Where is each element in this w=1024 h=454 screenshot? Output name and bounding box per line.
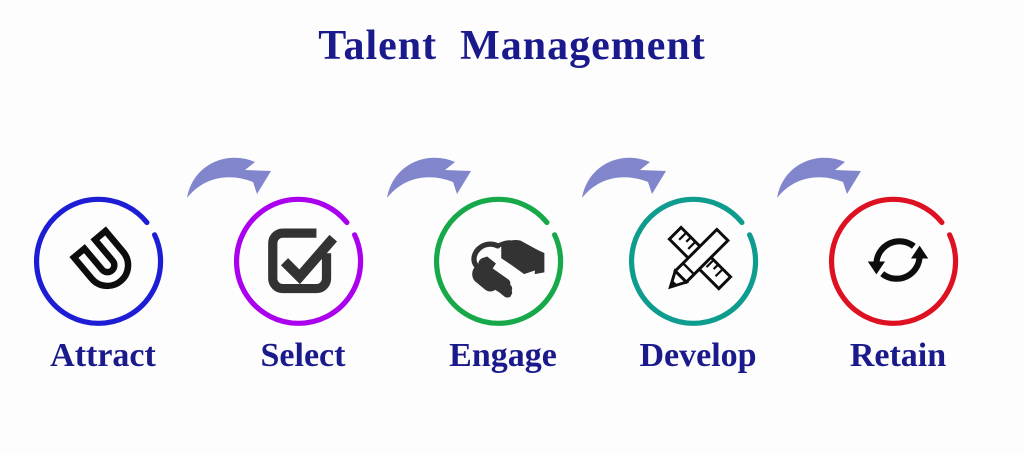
refresh-cycle-arrows-icon	[851, 213, 945, 307]
step-label-attract: Attract	[8, 337, 198, 375]
step-attract[interactable]: Attract	[28, 185, 178, 385]
checkbox-check-icon	[256, 213, 350, 307]
step-retain[interactable]: Retain	[823, 185, 973, 385]
step-label-develop: Develop	[603, 337, 793, 375]
step-select[interactable]: Select	[228, 185, 378, 385]
step-label-engage: Engage	[408, 337, 598, 375]
magnet-icon	[56, 213, 150, 307]
pencil-ruler-icon	[651, 213, 745, 307]
page-title: Talent Management	[0, 22, 1024, 70]
step-engage[interactable]: Engage	[428, 185, 578, 385]
step-develop[interactable]: Develop	[623, 185, 773, 385]
infographic-canvas: Talent Management Attract	[0, 0, 1024, 454]
step-label-select: Select	[208, 337, 398, 375]
handshake-icon	[456, 213, 550, 307]
step-label-retain: Retain	[803, 337, 993, 375]
